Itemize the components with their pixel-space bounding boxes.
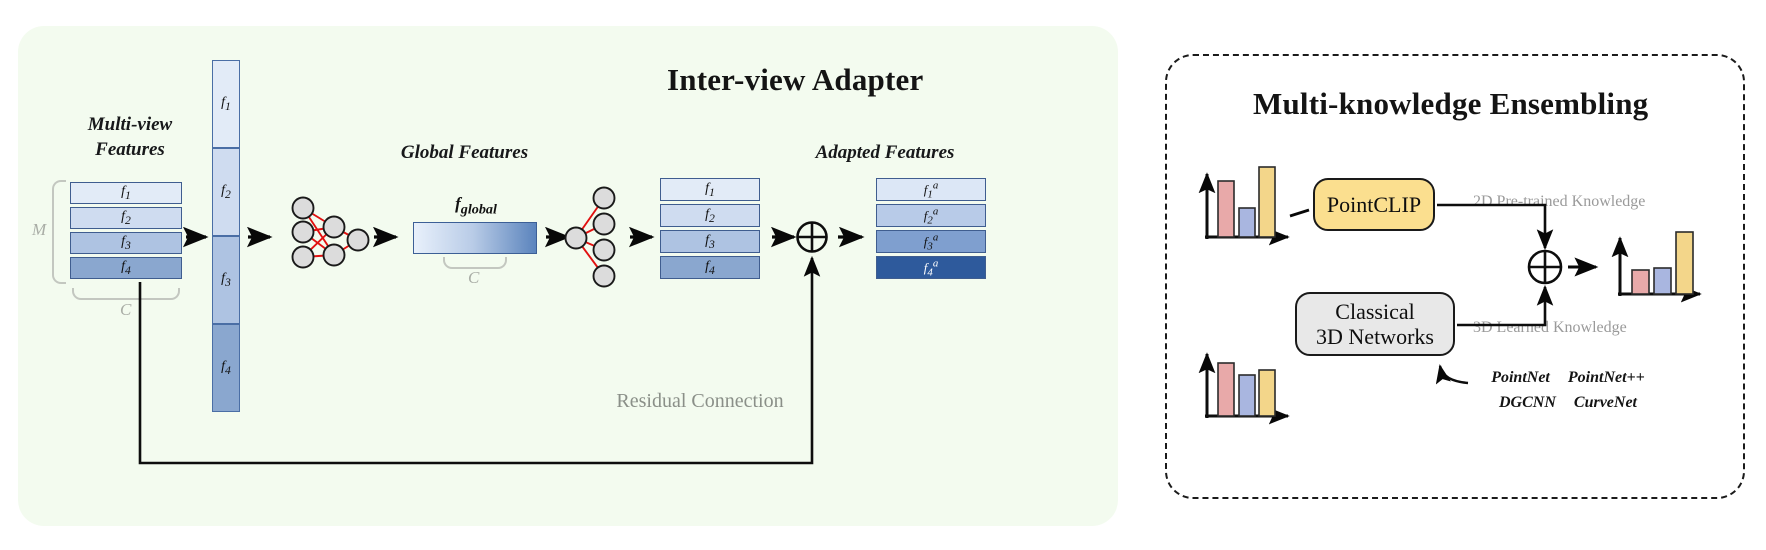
feature-row: f4 (70, 257, 182, 279)
feature-label: f1a (877, 179, 985, 200)
classical-label-line1: Classical (1335, 299, 1414, 324)
concat-label: f1 (213, 95, 239, 113)
feature-row: f3a (876, 230, 986, 253)
diagram-canvas: Inter-view Adapter Multi-view Features G… (0, 0, 1766, 550)
concat-row: f4 (212, 324, 240, 412)
feature-label: f2a (877, 205, 985, 226)
dimension-brace-c (72, 288, 180, 300)
feature-label: f3a (877, 231, 985, 252)
page-title: Inter-view Adapter (667, 62, 923, 98)
network-names-row: DGCNN CurveNet (1463, 390, 1673, 415)
feature-label: f3 (71, 234, 181, 252)
concat-label: f4 (213, 359, 239, 377)
concat-row: f1 (212, 60, 240, 148)
global-feature-bar (413, 222, 537, 254)
dimension-label-c: C (120, 300, 131, 320)
concat-label: f3 (213, 271, 239, 289)
f-global-label: fglobal (424, 194, 528, 218)
feature-row: f1 (70, 182, 182, 204)
concat-row: f2 (212, 148, 240, 236)
feature-label: f1 (661, 181, 759, 199)
feature-label: f1 (71, 184, 181, 202)
multi-view-features-label: Multi-view Features (70, 112, 190, 162)
feature-label: f2 (661, 207, 759, 225)
classical-label-line2: 3D Networks (1316, 324, 1434, 349)
feature-row: f3 (70, 232, 182, 254)
feature-label: f4 (71, 259, 181, 277)
network-names-row: PointNet PointNet++ (1463, 365, 1673, 390)
multi-view-label-line1: Multi-view (70, 112, 190, 137)
feature-row: f2a (876, 204, 986, 227)
feature-label: f2 (71, 209, 181, 227)
feature-label: f4 (661, 259, 759, 277)
feature-row: f3 (660, 230, 760, 253)
feature-label: f4a (877, 257, 985, 278)
feature-row: f2 (70, 207, 182, 229)
classical-label: Classical 3D Networks (1316, 299, 1434, 350)
residual-connection-label: Residual Connection (600, 390, 800, 413)
network-name: PointNet (1491, 369, 1550, 386)
feature-row: f2 (660, 204, 760, 227)
feature-label: f3 (661, 233, 759, 251)
concat-row: f3 (212, 236, 240, 324)
feature-row: f4a (876, 256, 986, 279)
network-name: CurveNet (1574, 394, 1637, 411)
multi-view-feature-stack: f1 f2 f3 f4 (70, 182, 182, 282)
network-name: PointNet++ (1568, 369, 1645, 386)
dimension-brace-m (52, 180, 66, 284)
concatenated-feature-column: f1 f2 f3 f4 (212, 60, 240, 412)
pointclip-label: PointCLIP (1327, 192, 1421, 217)
decoded-feature-stack: f1 f2 f3 f4 (660, 178, 760, 282)
adapted-features-label: Adapted Features (810, 140, 960, 165)
feature-row: f1a (876, 178, 986, 201)
dimension-label-m: M (32, 220, 46, 240)
adapted-feature-stack: f1a f2a f3a f4a (876, 178, 986, 282)
network-name: DGCNN (1499, 394, 1556, 411)
concat-label: f2 (213, 183, 239, 201)
feature-row: f1 (660, 178, 760, 201)
multi-view-label-line2: Features (70, 137, 190, 162)
knowledge-2d-label: 2D Pre-trained Knowledge (1473, 193, 1645, 211)
right-panel-title: Multi-knowledge Ensembling (1253, 86, 1648, 122)
global-features-label: Global Features (392, 140, 537, 165)
pointclip-box[interactable]: PointCLIP (1313, 178, 1435, 231)
network-names-annotation: PointNet PointNet++ DGCNN CurveNet (1463, 365, 1673, 415)
classical-3d-networks-box[interactable]: Classical 3D Networks (1295, 292, 1455, 356)
knowledge-3d-label: 3D Learned Knowledge (1473, 319, 1627, 337)
feature-row: f4 (660, 256, 760, 279)
dimension-label-c2: C (468, 268, 479, 288)
